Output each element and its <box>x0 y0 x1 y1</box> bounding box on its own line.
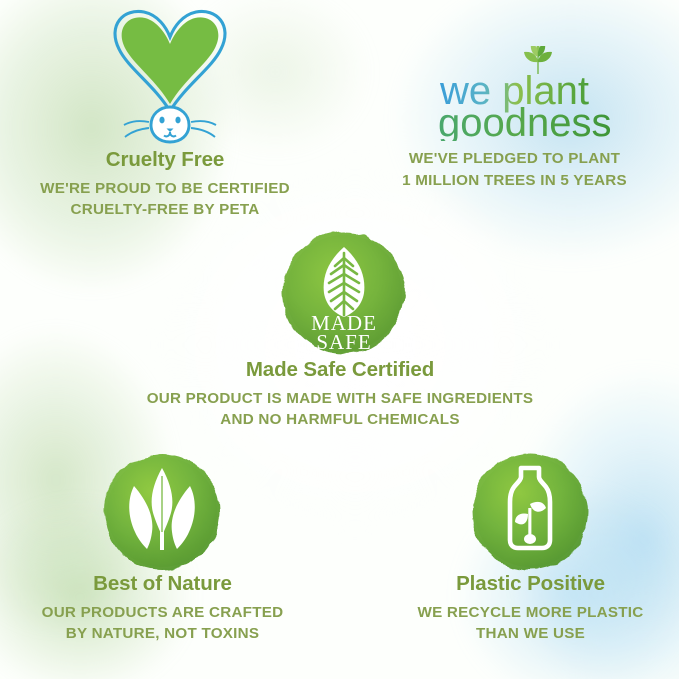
badge-cruelty-free: Cruelty Free WE'RE PROUD TO BE CERTIFIED… <box>0 148 330 221</box>
badge-heading: Best of Nature <box>10 572 315 596</box>
badge-line-2: THAN WE USE <box>378 623 679 645</box>
bottle-sprout-badge-icon <box>464 446 596 578</box>
badge-line-1: OUR PRODUCTS ARE CRAFTED <box>10 602 315 624</box>
badge-heading: Cruelty Free <box>0 148 330 172</box>
badge-best-of-nature: Best of Nature OUR PRODUCTS ARE CRAFTED … <box>10 572 315 645</box>
badge-line-1: OUR PRODUCT IS MADE WITH SAFE INGREDIENT… <box>90 388 590 410</box>
badge-line-1: WE'RE PROUD TO BE CERTIFIED <box>0 178 330 200</box>
peta-bunny-heart-icon <box>103 8 237 149</box>
badge-line-2: 1 MILLION TREES IN 5 YEARS <box>350 170 679 192</box>
badge-we-plant-goodness: WE'VE PLEDGED TO PLANT 1 MILLION TREES I… <box>350 148 679 191</box>
badge-heading: Plastic Positive <box>378 572 679 596</box>
made-safe-text-bottom: SAFE <box>316 330 371 354</box>
badge-line-1: WE'VE PLEDGED TO PLANT <box>350 148 679 170</box>
three-leaves-badge-icon <box>96 446 228 578</box>
badge-line-2: CRUELTY-FREE BY PETA <box>0 199 330 221</box>
badge-line-2: BY NATURE, NOT TOXINS <box>10 623 315 645</box>
badge-line-1: WE RECYCLE MORE PLASTIC <box>378 602 679 624</box>
made-safe-leaf-badge-icon: MADE SAFE <box>274 223 414 363</box>
sustainability-badges-poster: Cruelty Free WE'RE PROUD TO BE CERTIFIED… <box>0 0 679 679</box>
badge-plastic-positive: Plastic Positive WE RECYCLE MORE PLASTIC… <box>378 572 679 645</box>
we-plant-goodness-logo: we plant goodness <box>438 46 638 146</box>
badge-line-2: AND NO HARMFUL CHEMICALS <box>90 409 590 431</box>
logo-word-goodness: goodness <box>438 101 611 141</box>
badge-heading: Made Safe Certified <box>90 358 590 382</box>
badge-made-safe: Made Safe Certified OUR PRODUCT IS MADE … <box>90 358 590 431</box>
